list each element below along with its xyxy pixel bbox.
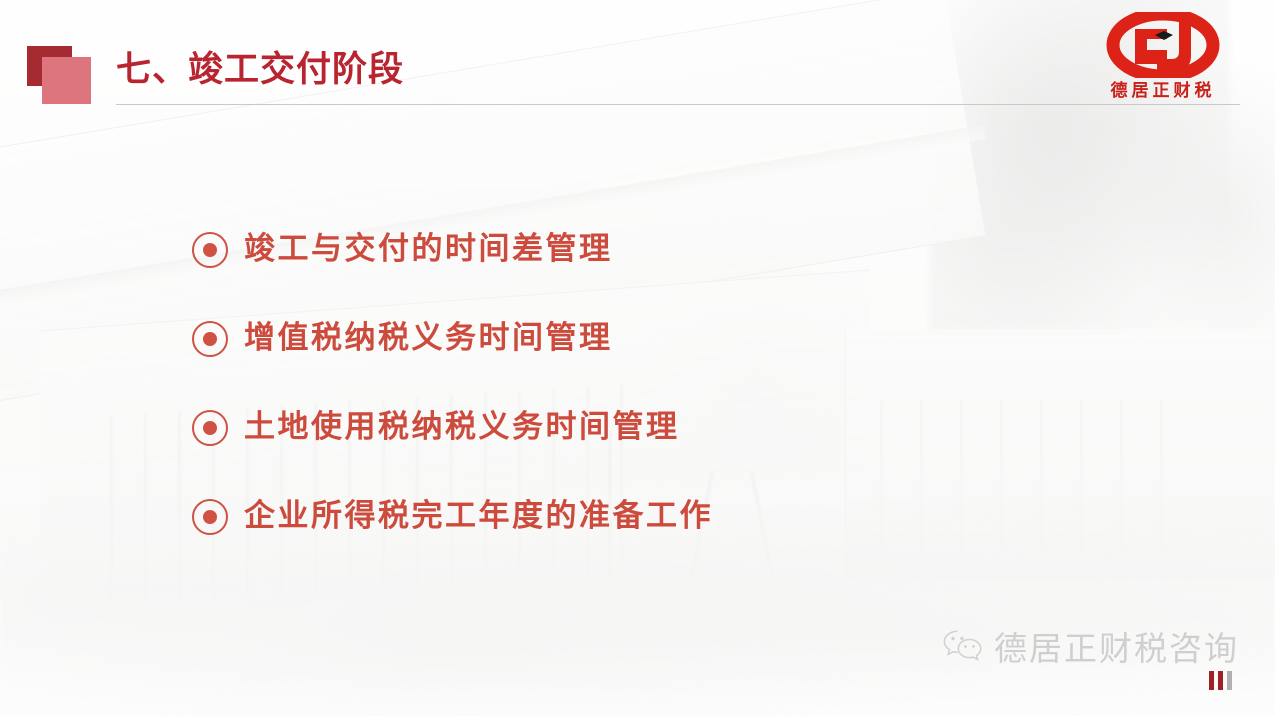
brand-name-text: 德居正财税 [1087, 76, 1239, 101]
radio-dot-icon [192, 410, 228, 446]
list-item-label: 企业所得税完工年度的准备工作 [244, 498, 713, 535]
footer-bar [1209, 671, 1214, 690]
presentation-slide: 七、竣工交付阶段 德居正财税 竣工与交付的时间差管理 [0, 0, 1275, 716]
footer-bar [1227, 671, 1232, 690]
page-title: 七、竣工交付阶段 [116, 48, 404, 92]
footer-bar-marks [1209, 671, 1232, 690]
list-item-label: 增值税纳税义务时间管理 [244, 320, 613, 357]
list-item[interactable]: 企业所得税完工年度的准备工作 [192, 472, 1092, 561]
wechat-account-name: 德居正财税咨询 [994, 622, 1239, 670]
wechat-watermark: 德居正财税咨询 [942, 622, 1239, 670]
footer-bar [1218, 671, 1223, 690]
slide-header: 七、竣工交付阶段 德居正财税 [0, 0, 1275, 120]
list-item-label: 竣工与交付的时间差管理 [244, 231, 613, 268]
dejuzheng-logo-icon [1093, 12, 1233, 78]
list-item[interactable]: 土地使用税纳税义务时间管理 [192, 383, 1092, 472]
brand-logo: 德居正财税 [1087, 12, 1239, 104]
radio-dot-icon [192, 499, 228, 535]
title-divider [116, 104, 1240, 105]
list-item[interactable]: 竣工与交付的时间差管理 [192, 205, 1092, 294]
list-item[interactable]: 增值税纳税义务时间管理 [192, 294, 1092, 383]
list-item-label: 土地使用税纳税义务时间管理 [244, 409, 680, 446]
title-decoration-squares [27, 46, 99, 104]
decoration-square-front [42, 57, 91, 104]
radio-dot-icon [192, 321, 228, 357]
bullet-list: 竣工与交付的时间差管理 增值税纳税义务时间管理 土地使用税纳税义务时间管理 企业… [192, 205, 1092, 561]
radio-dot-icon [192, 232, 228, 268]
wechat-icon [942, 629, 984, 663]
